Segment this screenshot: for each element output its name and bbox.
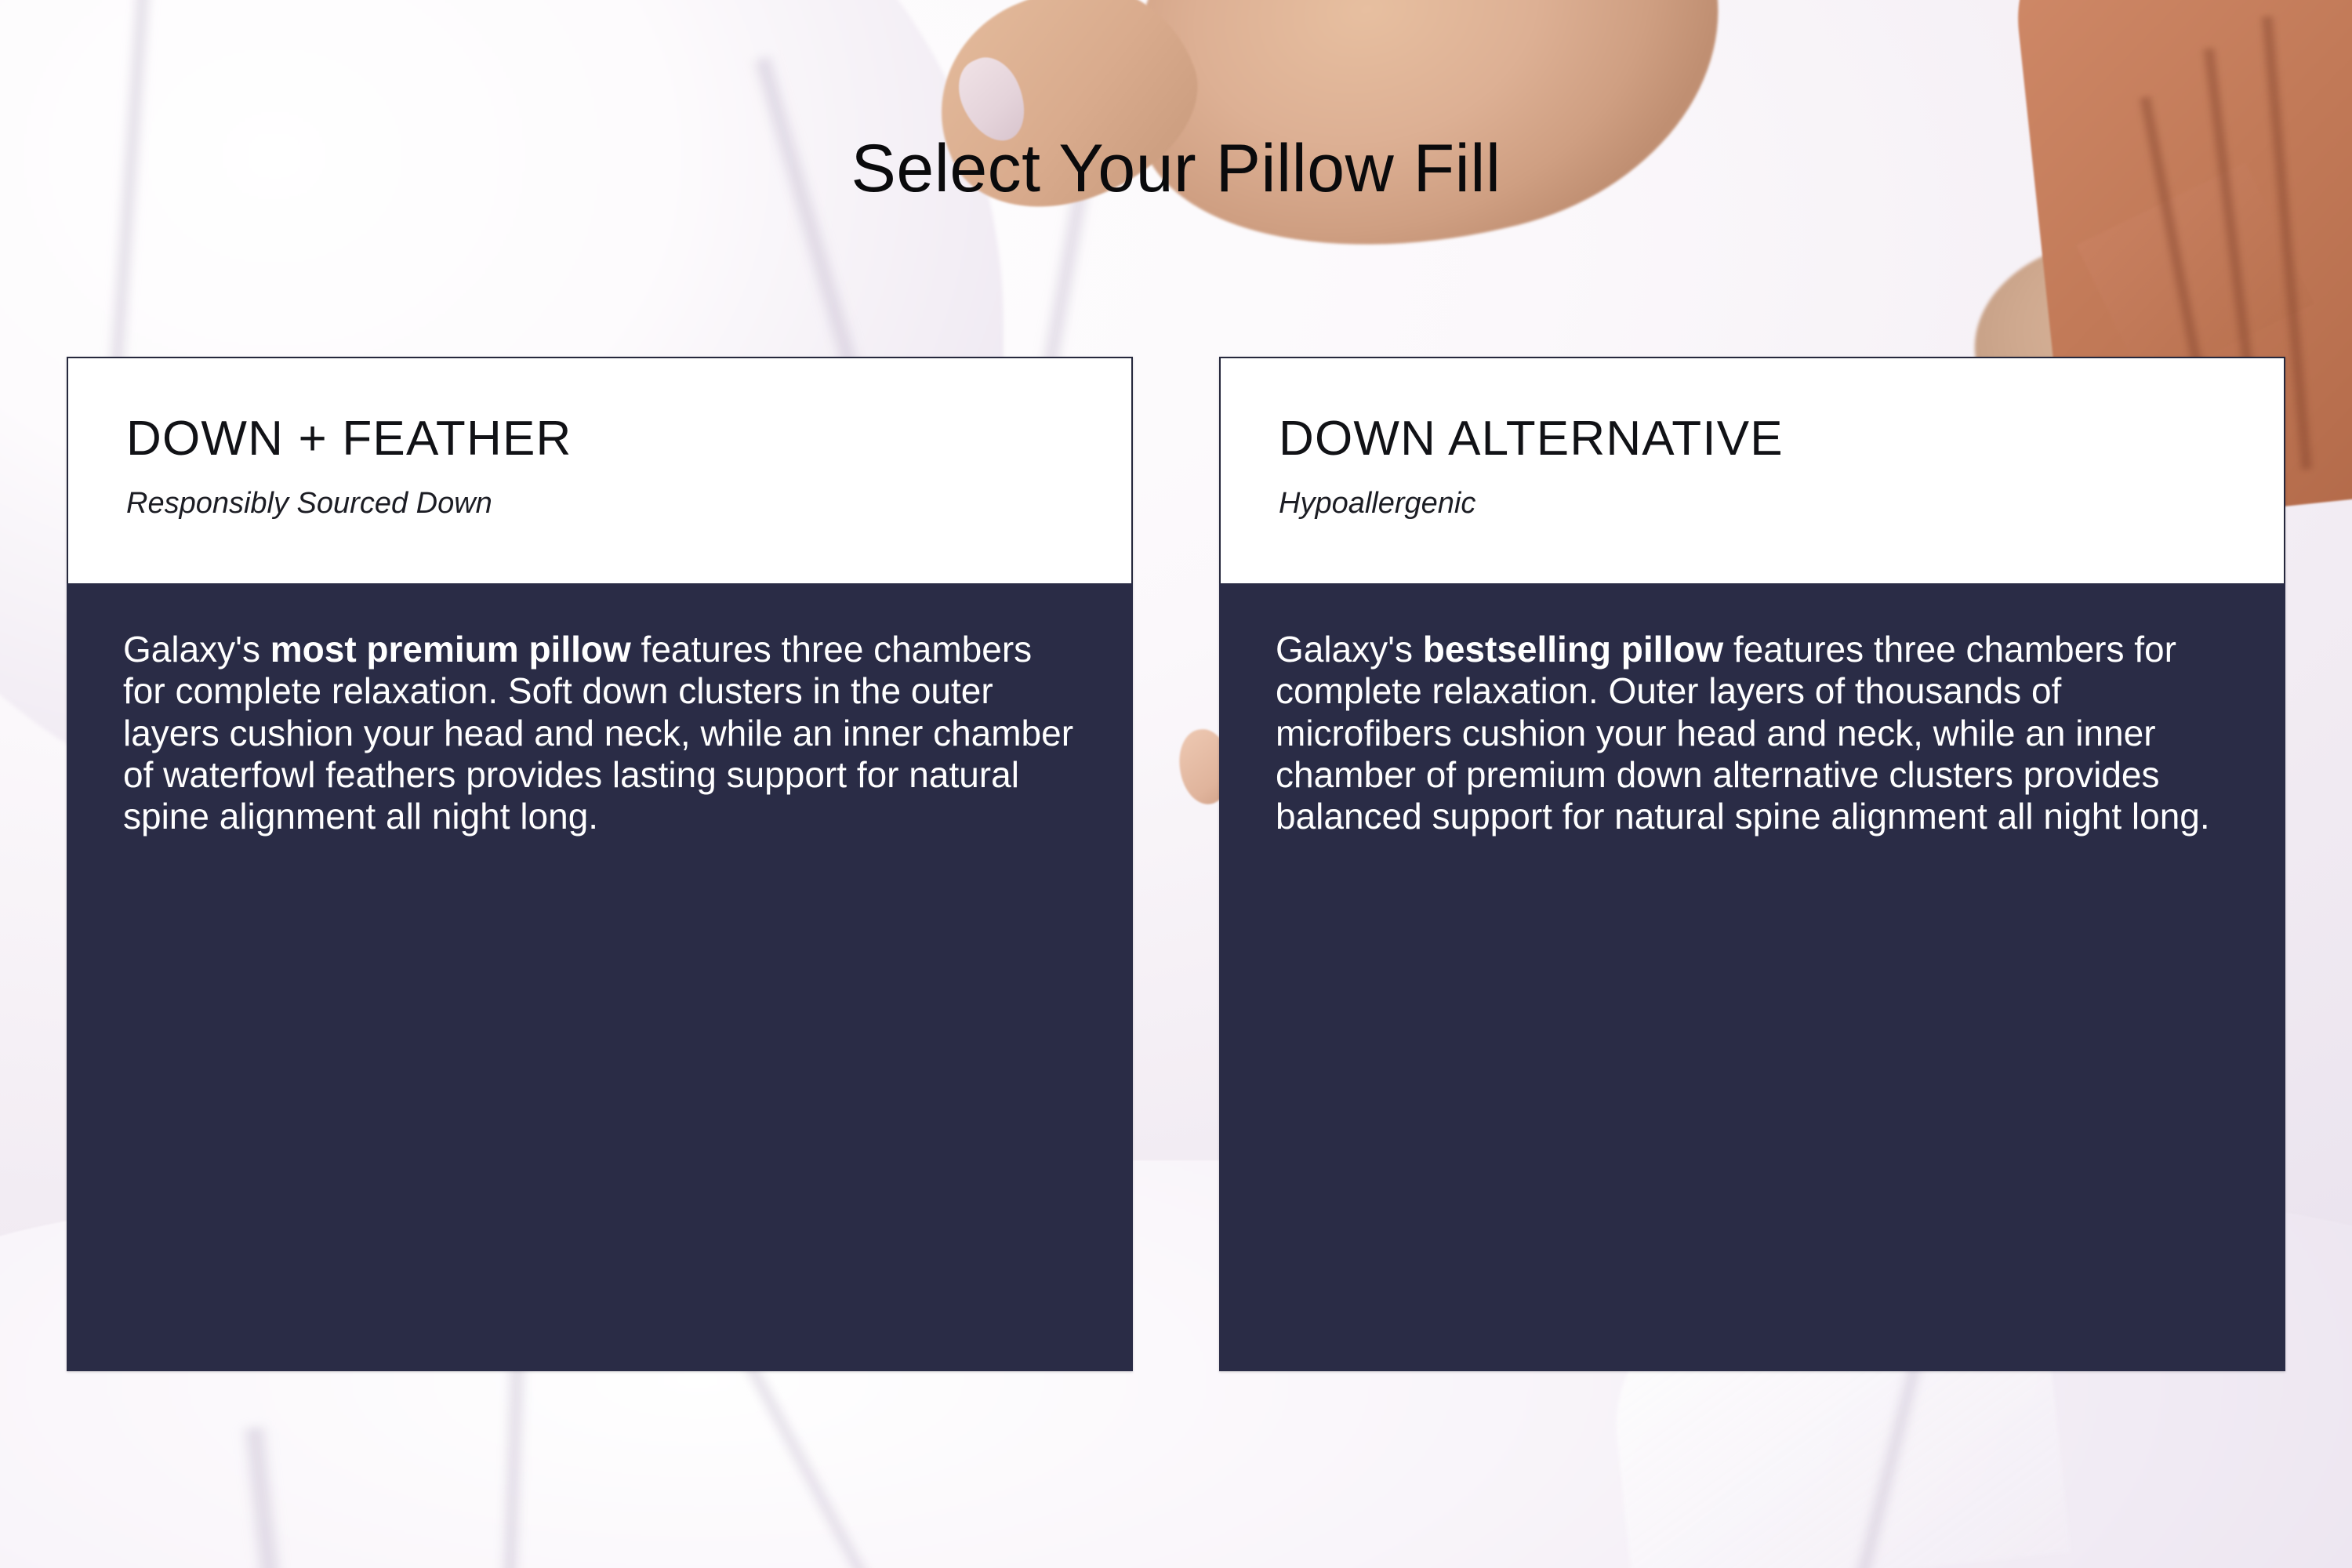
description-emphasis: most premium pillow bbox=[270, 629, 631, 670]
pillow-option-card-down-alternative[interactable]: DOWN ALTERNATIVE Hypoallergenic Galaxy's… bbox=[1219, 357, 2285, 1371]
pillow-option-card-down-feather[interactable]: DOWN + FEATHER Responsibly Sourced Down … bbox=[67, 357, 1133, 1371]
pillow-fill-options: DOWN + FEATHER Responsibly Sourced Down … bbox=[67, 357, 2285, 1371]
card-header: DOWN + FEATHER Responsibly Sourced Down bbox=[67, 357, 1133, 583]
description-emphasis: bestselling pillow bbox=[1423, 629, 1723, 670]
description-lead: Galaxy's bbox=[123, 629, 270, 670]
page-title: Select Your Pillow Fill bbox=[0, 135, 2352, 202]
card-title: DOWN ALTERNATIVE bbox=[1279, 415, 2226, 463]
card-description: Galaxy's most premium pillow features th… bbox=[67, 583, 1133, 1371]
card-header: DOWN ALTERNATIVE Hypoallergenic bbox=[1219, 357, 2285, 583]
card-subtitle: Hypoallergenic bbox=[1279, 488, 2226, 518]
card-description: Galaxy's bestselling pillow features thr… bbox=[1219, 583, 2285, 1371]
pillow-fill-selector-screen: Select Your Pillow Fill DOWN + FEATHER R… bbox=[0, 0, 2352, 1568]
card-title: DOWN + FEATHER bbox=[126, 415, 1073, 463]
card-subtitle: Responsibly Sourced Down bbox=[126, 488, 1073, 518]
description-lead: Galaxy's bbox=[1276, 629, 1423, 670]
